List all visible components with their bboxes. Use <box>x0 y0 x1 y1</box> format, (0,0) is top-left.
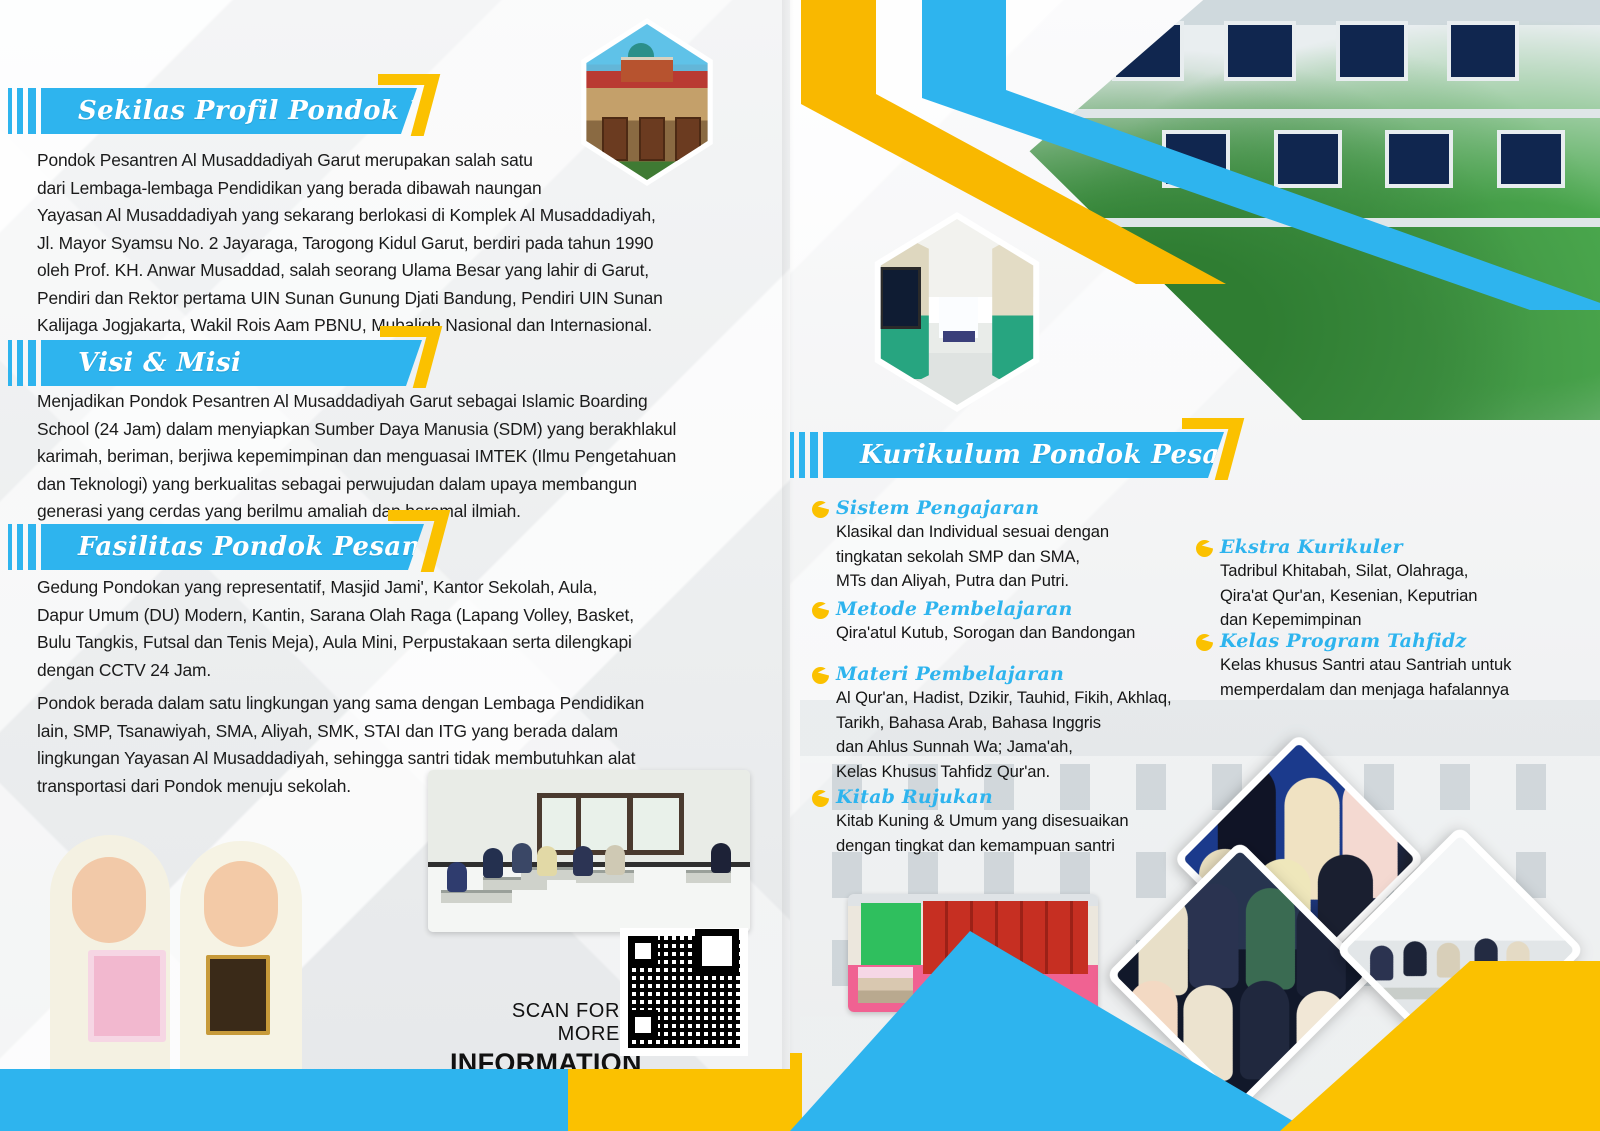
qr-code-image[interactable] <box>628 936 740 1048</box>
section-title-visi-misi: Visi & Misi <box>52 348 241 378</box>
bottom-bar-blue <box>0 1069 580 1131</box>
curriculum-item-body: Qira'atul Kutub, Sorogan dan Bandongan <box>836 621 1135 646</box>
brochure-page: Sekilas Profil Pondok Pesantren Pondok P… <box>0 0 1600 1131</box>
paragraph: Menjadikan Pondok Pesantren Al Musaddadi… <box>37 388 743 526</box>
line: Kitab Kuning & Umum yang disesuaikan <box>836 809 1129 834</box>
header-bars-2 <box>8 340 52 386</box>
header-bars-1 <box>8 88 52 134</box>
bottom-bar-yellow <box>568 1069 790 1131</box>
bullet-pacman-icon <box>812 790 829 807</box>
line: Qira'atul Kutub, Sorogan dan Bandongan <box>836 621 1135 646</box>
bullet-pacman-icon <box>812 602 829 619</box>
curriculum-item-body: Tadribul Khitabah, Silat, Olahraga, Qira… <box>1220 559 1477 633</box>
line: dengan tingkat dan kemampuan santri <box>836 834 1129 859</box>
curriculum-item-title: Materi Pembelajaran <box>836 663 1064 685</box>
curriculum-item-body: Klasikal dan Individual sesuai dengan ti… <box>836 520 1109 594</box>
qr-code-box[interactable] <box>620 928 748 1056</box>
curriculum-item-title: Ekstra Kurikuler <box>1220 536 1403 558</box>
classroom-photo <box>428 770 750 932</box>
curriculum-item-title: Kitab Rujukan <box>836 786 993 808</box>
curriculum-item-sistem-pengajaran: Sistem Pengajaran Klasikal dan Individua… <box>812 497 1109 594</box>
line: Kelas khusus Santri atau Santriah untuk <box>1220 653 1511 678</box>
line: memperdalam dan menjaga hafalannya <box>1220 678 1511 703</box>
scan-text-block: SCAN FOR MORE INFORMATION <box>450 1000 620 1079</box>
curriculum-item-kelas-program-tahfidz: Kelas Program Tahfidz Kelas khusus Santr… <box>1196 630 1511 702</box>
curriculum-item-title: Sistem Pengajaran <box>836 497 1039 519</box>
line: MTs dan Aliyah, Putra dan Putri. <box>836 569 1109 594</box>
curriculum-item-metode-pembelajaran: Metode Pembelajaran Qira'atul Kutub, Sor… <box>812 598 1135 646</box>
line: Qira'at Qur'an, Kesenian, Keputrian <box>1220 584 1477 609</box>
line: Tarikh, Bahasa Arab, Bahasa Inggris <box>836 711 1172 736</box>
line: Kelas Khusus Tahfidz Qur'an. <box>836 760 1172 785</box>
line: Al Qur'an, Hadist, Dzikir, Tauhid, Fikih… <box>836 686 1172 711</box>
bottom-chevron-yellow <box>1220 931 1600 1131</box>
header-band-1: Sekilas Profil Pondok Pesantren <box>52 88 417 134</box>
section-body-visi-misi: Menjadikan Pondok Pesantren Al Musaddadi… <box>37 388 743 526</box>
header-band-3: Fasilitas Pondok Pesantren <box>52 524 424 570</box>
header-bars-3 <box>8 524 52 570</box>
line: Klasikal dan Individual sesuai dengan <box>836 520 1109 545</box>
header-band-2: Visi & Misi <box>52 340 422 386</box>
bottom-right-shapes <box>790 931 1600 1131</box>
curriculum-item-title: Metode Pembelajaran <box>836 598 1073 620</box>
paragraph: Pondok Pesantren Al Musaddadiyah Garut m… <box>37 147 743 340</box>
section-body-profil: Pondok Pesantren Al Musaddadiyah Garut m… <box>37 147 743 340</box>
curriculum-item-body: Kelas khusus Santri atau Santriah untuk … <box>1220 653 1511 702</box>
line: Tadribul Khitabah, Silat, Olahraga, <box>1220 559 1477 584</box>
section-body-fasilitas: Gedung Pondokan yang representatif, Masj… <box>37 574 743 800</box>
curriculum-item-title: Kelas Program Tahfidz <box>1220 630 1466 652</box>
bottom-chevron-blue <box>790 931 1310 1131</box>
scan-line-1: SCAN FOR MORE <box>450 1000 620 1046</box>
curriculum-item-kitab-rujukan: Kitab Rujukan Kitab Kuning & Umum yang d… <box>812 786 1129 858</box>
bullet-pacman-icon <box>812 667 829 684</box>
bullet-pacman-icon <box>1196 540 1213 557</box>
curriculum-item-body: Al Qur'an, Hadist, Dzikir, Tauhid, Fikih… <box>836 686 1172 784</box>
curriculum-item-materi-pembelajaran: Materi Pembelajaran Al Qur'an, Hadist, D… <box>812 663 1172 784</box>
line: dan Kepemimpinan <box>1220 608 1477 633</box>
bullet-pacman-icon <box>1196 634 1213 651</box>
header-band-4: Kurikulum Pondok Pesantren <box>834 432 1224 478</box>
paragraph: Gedung Pondokan yang representatif, Masj… <box>37 574 743 684</box>
line: tingkatan sekolah SMP dan SMA, <box>836 545 1109 570</box>
students-pair-photo <box>20 805 320 1075</box>
bullet-pacman-icon <box>812 501 829 518</box>
header-bars-4 <box>790 432 834 478</box>
line: dan Ahlus Sunnah Wa; Jama'ah, <box>836 735 1172 760</box>
curriculum-item-body: Kitab Kuning & Umum yang disesuaikan den… <box>836 809 1129 858</box>
curriculum-item-ekstra-kurikuler: Ekstra Kurikuler Tadribul Khitabah, Sila… <box>1196 536 1477 633</box>
